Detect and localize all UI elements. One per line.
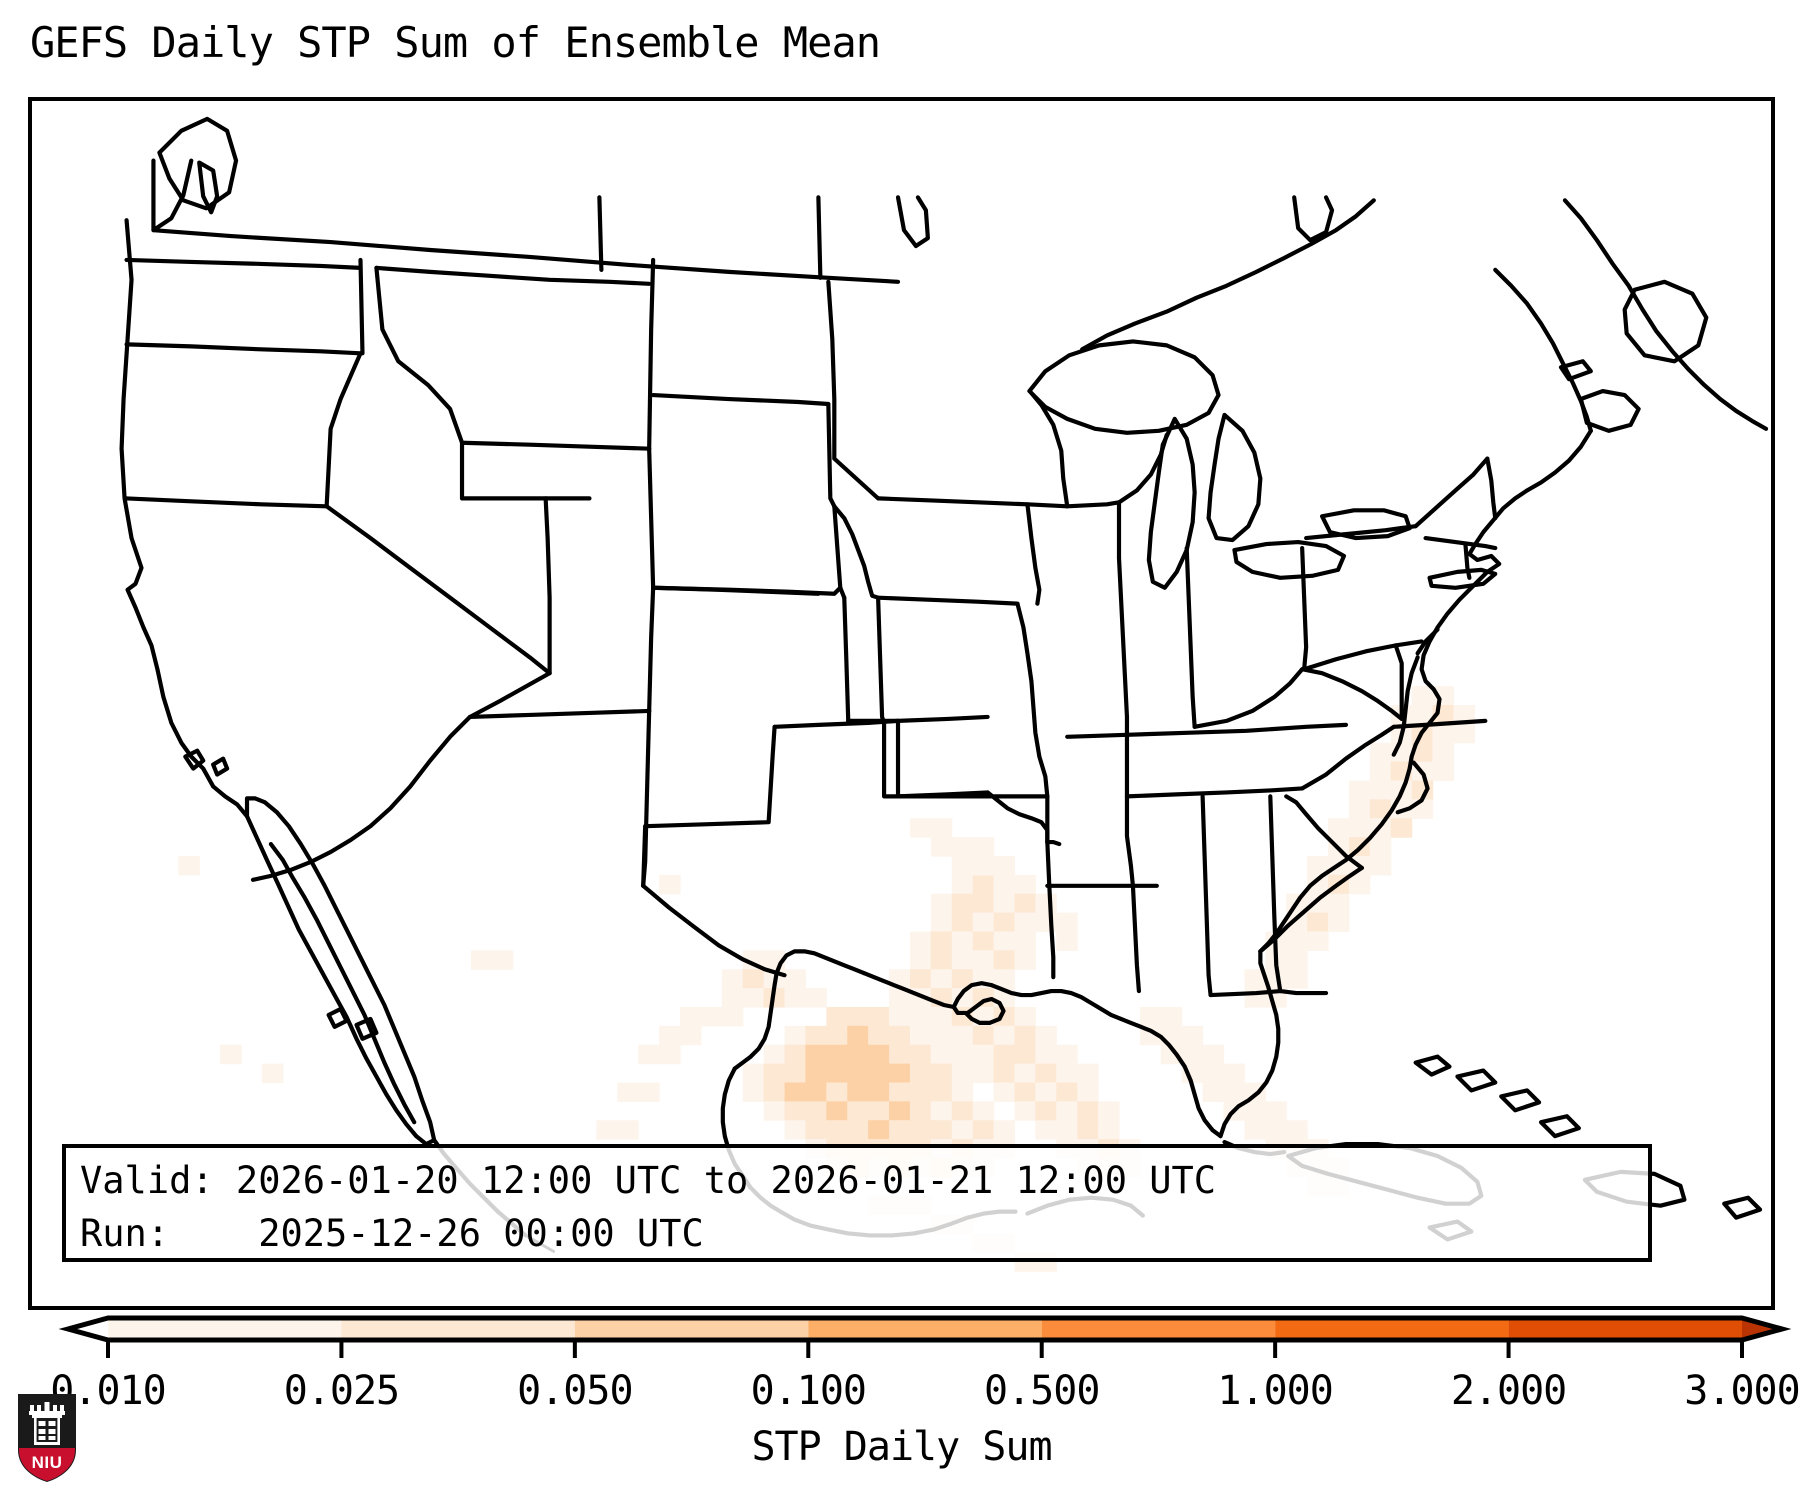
colorbar-band [575,1318,808,1340]
state-border-nv-ut [546,498,550,673]
canada-coast-hudson-e [1294,197,1332,240]
state-border-pa-md [1304,641,1421,669]
state-border-nd-sd [653,395,828,404]
state-border-al-ga [1270,796,1280,991]
state-border-ia-mo [878,598,1017,604]
colorbar-tick-labels: 0.0100.0250.0500.1000.5001.0002.0003.000 [0,1368,1803,1420]
canada-gulf-stlawrence [1495,270,1591,431]
state-border-ks-mo [878,598,884,723]
coast-louisiana-west [864,973,954,1007]
canada-label-line-2 [818,197,820,277]
state-border-wa-or-coast [127,260,361,268]
colorbar-tick-label: 0.050 [517,1368,632,1414]
state-border-oh-pa [1302,548,1306,669]
coast-carolinas [1260,769,1409,952]
state-border-vt-nh [1487,459,1495,519]
state-border-nm-tx [643,727,774,886]
state-border-co-ks [844,598,848,721]
state-border-il-in [1119,558,1127,796]
state-border-mo-il [1017,604,1047,797]
map-frame [28,97,1775,1310]
state-border-wi-il [1067,502,1119,558]
coast-nj-delmarva [1410,572,1488,769]
colorbar-band [108,1318,341,1340]
state-border-ky-oh-wv [1195,669,1303,727]
colorbar[interactable] [0,1312,1803,1372]
bahamas-b [1457,1071,1495,1091]
state-border-mn-nd-sd [828,282,878,499]
chesapeake-bay [1394,657,1418,754]
state-border-ne-ks [834,506,844,597]
pei-island [1561,361,1591,379]
lake-erie [1234,542,1343,578]
state-border-ut-az [470,711,649,717]
state-border-ny-ma-ct [1426,538,1496,548]
state-border-tn-ms-al-north [1127,788,1302,796]
colorbar-band [341,1318,574,1340]
colorbar-tick-label: 3.000 [1684,1368,1799,1414]
colorbar-band [808,1318,1041,1340]
niu-logo-text: NIU [32,1453,63,1472]
state-border-wy-sd-ne [649,449,653,588]
colorbar-band [1275,1318,1508,1340]
state-border-tn-nc [1302,727,1394,789]
bahamas-d [1541,1116,1579,1136]
state-border-ia-mn [878,498,1067,506]
state-border-mt-nd [649,260,653,449]
coast-gulf-florida-panhandle [992,985,1121,1019]
florida-peninsula-west [1121,1019,1221,1136]
state-border-or-id [327,353,361,506]
page-title: GEFS Daily STP Sum of Ensemble Mean [30,18,880,67]
state-border-md-va [1396,645,1402,719]
lake-huron [1209,415,1261,540]
state-border-sc-ga [1286,796,1362,868]
lake-winnipeg [898,197,928,246]
island-socorro-b [357,1019,377,1039]
niu-shield-logo: NIU [16,1392,78,1484]
state-border-la-ms [1133,886,1139,991]
island-socorro-a [329,1009,347,1027]
nova-scotia [1581,391,1639,431]
valid-time-line: Valid: 2026-01-20 12:00 UTC to 2026-01-2… [80,1154,1648,1207]
state-border-wv-va [1302,669,1402,719]
state-border-ny-vt-nh [1416,459,1488,527]
bahamas-c [1501,1090,1539,1110]
state-border-ga-fl [1280,991,1326,993]
annotation-box: Valid: 2026-01-20 12:00 UTC to 2026-01-2… [62,1144,1652,1262]
state-border-wa-or [127,344,361,353]
bahamas-a [1416,1057,1450,1075]
state-border-ms-al [1203,796,1211,995]
colorbar-ticks [108,1340,1742,1358]
island-cedros [213,759,227,775]
border-us-canada-49 [153,230,898,282]
colorbar-band [1509,1318,1742,1340]
caribbean-islands-east [1724,1198,1760,1218]
colorbar-tick-label: 2.000 [1451,1368,1566,1414]
colorbar-tick-label: 1.000 [1217,1368,1332,1414]
state-border-ca-az [253,717,470,880]
state-border-ks-ok [848,717,987,721]
colorbar-axis-label: STP Daily Sum [0,1424,1803,1470]
coast-texas [735,951,864,1068]
lake-superior [1029,341,1218,432]
state-border-tx-la [1047,842,1053,977]
newfoundland [1625,282,1707,361]
state-border-id-mt [376,268,462,498]
colorbar-bands [68,1318,1782,1340]
mexico-west-coast-inner [271,844,414,1122]
state-border-ar-ms [1127,796,1133,885]
coast-pacific-nw [153,161,191,231]
state-border-mo-ar [884,723,1047,797]
state-border-wa-id [360,260,362,353]
state-border-in-oh [1187,548,1195,727]
state-border-tx-ok-red [988,792,1048,842]
coast-georgia-florida-atlantic [1221,951,1279,1136]
colorbar-band [1042,1318,1275,1340]
state-border-nv-az [470,673,550,717]
run-time-line: Run: 2025-12-26 00:00 UTC [80,1207,1648,1260]
state-border-tx-nm-south [643,886,784,975]
state-border-ia-il [1027,504,1039,603]
canada-label-line-1 [599,197,601,270]
state-border-mt-id-north [376,268,649,284]
state-border-ut-co [649,588,653,711]
coast-washington-oregon-california [122,220,247,816]
state-border-ca-nv [327,506,550,673]
state-border-or-ca [125,498,327,506]
state-border-va-nc [1394,721,1486,727]
geography-layer [32,101,1771,1306]
colorbar-tick-label: 0.500 [984,1368,1099,1414]
colorbar-tick-label: 0.025 [284,1368,399,1414]
coast-maine-to-cape-cod [1469,431,1590,572]
colorbar-tick-label: 0.100 [751,1368,866,1414]
state-border-mt-wy [462,443,649,449]
